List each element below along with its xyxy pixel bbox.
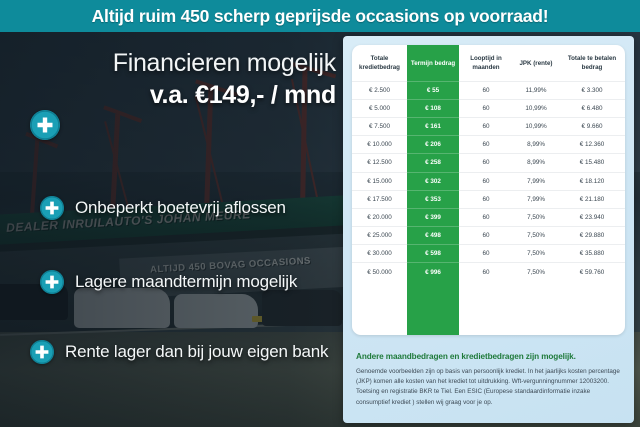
cell-total-credit: € 2.500 [352,81,407,99]
table-row: € 17.500€ 353607,99%€ 21.180 [352,190,625,208]
cell-total-payable: € 21.180 [559,190,625,208]
cell-total-payable: € 35.880 [559,245,625,263]
cell-term-months: 60 [459,263,513,281]
advertisement-banner: DEALER INRUILAUTO'S JOHAN MEURE ALTIJD 4… [0,0,640,427]
cell-term-months: 60 [459,190,513,208]
cell-apr: 8,99% [513,154,559,172]
table-row: € 30.000€ 598607,50%€ 35.880 [352,245,625,263]
cell-term-months: 60 [459,117,513,135]
cell-total-credit: € 7.500 [352,117,407,135]
column-header-monthly-amount: Termijn bedrag [407,45,459,81]
left-content-column: Financieren mogelijk v.a. €149,- / mnd O… [0,32,345,427]
plus-icon-2 [40,270,64,294]
bullet-item-2: Lagere maandtermijn mogelijk [40,270,297,294]
table-row: € 5.000€ 1086010,99%€ 6.480 [352,99,625,117]
cell-monthly-amount: € 353 [407,190,459,208]
cell-term-months: 60 [459,208,513,226]
rates-table: Totale kredietbedrag Termijn bedrag Loop… [352,45,625,281]
cell-total-credit: € 15.000 [352,172,407,190]
table-row: € 2.500€ 556011,99%€ 3.300 [352,81,625,99]
cell-total-payable: € 6.480 [559,99,625,117]
financing-info-card: Totale kredietbedrag Termijn bedrag Loop… [343,36,634,423]
cell-term-months: 60 [459,227,513,245]
cell-apr: 7,50% [513,263,559,281]
plus-icon-1 [40,196,64,220]
cell-apr: 7,50% [513,245,559,263]
table-row: € 7.500€ 1616010,99%€ 9.660 [352,117,625,135]
cell-total-credit: € 5.000 [352,99,407,117]
cell-total-credit: € 10.000 [352,136,407,154]
cell-monthly-amount: € 206 [407,136,459,154]
rates-table-panel: Totale kredietbedrag Termijn bedrag Loop… [352,45,625,335]
column-header-apr: JPK (rente) [513,45,559,81]
cell-term-months: 60 [459,245,513,263]
cell-term-months: 60 [459,172,513,190]
cell-total-payable: € 59.760 [559,263,625,281]
plus-icon-3 [30,340,54,364]
cell-apr: 10,99% [513,117,559,135]
cell-total-payable: € 29.880 [559,227,625,245]
cell-apr: 10,99% [513,99,559,117]
bullet-label-3: Rente lager dan bij jouw eigen bank [65,342,328,362]
cell-total-payable: € 23.940 [559,208,625,226]
cell-monthly-amount: € 598 [407,245,459,263]
bullet-label-1: Onbeperkt boetevrij aflossen [75,198,286,218]
cell-term-months: 60 [459,99,513,117]
cell-total-credit: € 50.000 [352,263,407,281]
cell-total-payable: € 15.480 [559,154,625,172]
cell-total-credit: € 20.000 [352,208,407,226]
cell-total-credit: € 25.000 [352,227,407,245]
cell-monthly-amount: € 399 [407,208,459,226]
bullet-item-1: Onbeperkt boetevrij aflossen [40,196,286,220]
cell-term-months: 60 [459,136,513,154]
headline-line-2: v.a. €149,- / mnd [26,81,336,110]
bullet-item-3: Rente lager dan bij jouw eigen bank [30,340,328,364]
cell-monthly-amount: € 258 [407,154,459,172]
table-row: € 10.000€ 206608,99%€ 12.360 [352,136,625,154]
cell-total-credit: € 12.500 [352,154,407,172]
table-row: € 12.500€ 258608,99%€ 15.480 [352,154,625,172]
column-header-total-payable: Totale te betalen bedrag [559,45,625,81]
cell-total-payable: € 9.660 [559,117,625,135]
cell-apr: 11,99% [513,81,559,99]
cell-monthly-amount: € 161 [407,117,459,135]
column-header-total-credit: Totale kredietbedrag [352,45,407,81]
cell-total-credit: € 17.500 [352,190,407,208]
banner-headline: Altijd ruim 450 scherp geprijsde occasio… [92,6,549,27]
table-row: € 25.000€ 498607,50%€ 29.880 [352,227,625,245]
cell-monthly-amount: € 996 [407,263,459,281]
cell-monthly-amount: € 498 [407,227,459,245]
cell-apr: 7,50% [513,208,559,226]
cell-total-payable: € 12.360 [559,136,625,154]
cell-term-months: 60 [459,154,513,172]
headline-line-1: Financieren mogelijk [26,50,336,76]
top-banner: Altijd ruim 450 scherp geprijsde occasio… [0,0,640,32]
bullet-label-2: Lagere maandtermijn mogelijk [75,272,297,292]
cell-total-payable: € 3.300 [559,81,625,99]
cell-apr: 8,99% [513,136,559,154]
plus-icon-headline [30,110,60,140]
cell-total-payable: € 18.120 [559,172,625,190]
table-body: € 2.500€ 556011,99%€ 3.300€ 5.000€ 10860… [352,81,625,281]
table-header-row: Totale kredietbedrag Termijn bedrag Loop… [352,45,625,81]
cell-apr: 7,99% [513,172,559,190]
fine-print-body: Genoemde voorbeelden zijn op basis van p… [356,367,622,408]
cell-total-credit: € 30.000 [352,245,407,263]
table-row: € 15.000€ 302607,99%€ 18.120 [352,172,625,190]
table-row: € 50.000€ 996607,50%€ 59.760 [352,263,625,281]
cell-term-months: 60 [459,81,513,99]
cell-apr: 7,50% [513,227,559,245]
fine-print-heading: Andere maandbedragen en kredietbedragen … [356,352,624,361]
cell-monthly-amount: € 108 [407,99,459,117]
cell-monthly-amount: € 302 [407,172,459,190]
table-row: € 20.000€ 399607,50%€ 23.940 [352,208,625,226]
column-header-term-months: Looptijd in maanden [459,45,513,81]
headline-block: Financieren mogelijk v.a. €149,- / mnd [26,50,336,110]
cell-apr: 7,99% [513,190,559,208]
cell-monthly-amount: € 55 [407,81,459,99]
